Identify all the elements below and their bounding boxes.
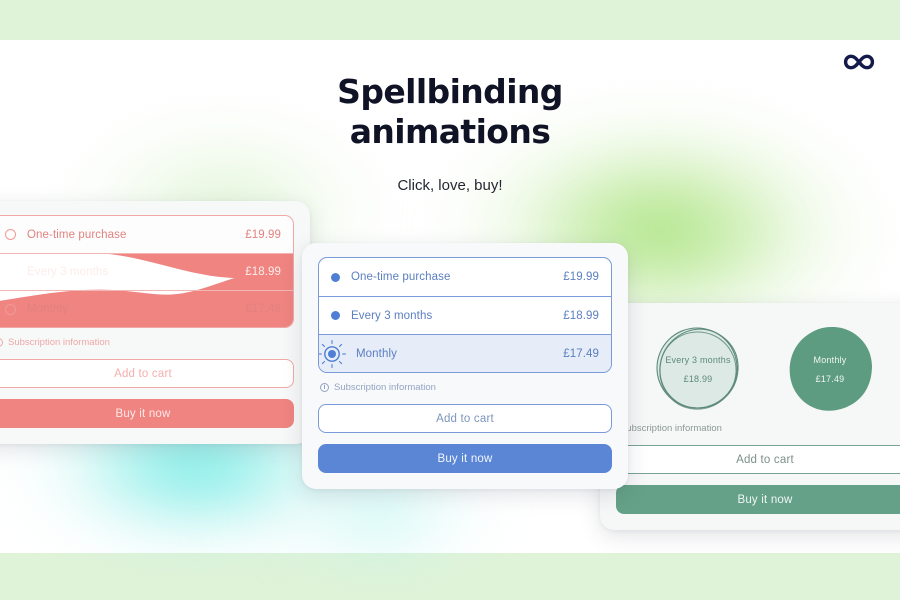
headline-line-1: Spellbinding bbox=[337, 72, 563, 111]
option-price: £18.99 bbox=[684, 374, 713, 384]
option-price: £17.49 bbox=[816, 374, 845, 384]
buy-it-now-button[interactable]: Buy it now bbox=[318, 444, 612, 473]
option-group-pink: One-time purchase £19.99 Every 3 months … bbox=[0, 215, 294, 328]
option-row[interactable]: One-time purchase £19.99 bbox=[319, 258, 611, 296]
info-circle-icon: i bbox=[320, 383, 329, 392]
page-title: Spellbinding animations bbox=[0, 76, 900, 147]
option-row[interactable]: Every 3 months £18.99 bbox=[319, 296, 611, 334]
add-to-cart-button[interactable]: Add to cart bbox=[318, 404, 612, 433]
radio-icon[interactable] bbox=[5, 229, 16, 240]
option-label: One-time purchase bbox=[351, 271, 563, 283]
option-group-green: Every 3 months £18.99 Monthly £17.49 bbox=[616, 319, 900, 419]
option-price: £18.99 bbox=[563, 310, 599, 322]
headline-line-2: animations bbox=[0, 116, 900, 147]
subscription-information-label: Subscription information bbox=[334, 382, 436, 393]
radio-icon-selected[interactable] bbox=[5, 267, 16, 278]
option-circle-filled[interactable]: Monthly £17.49 bbox=[784, 323, 876, 415]
option-price: £17.49 bbox=[563, 348, 599, 360]
blob-circle-icon bbox=[784, 323, 876, 415]
infinity-logo-icon[interactable] bbox=[842, 52, 876, 72]
option-circle-outline[interactable]: Every 3 months £18.99 bbox=[652, 323, 744, 415]
option-row[interactable]: Monthly £17.49 bbox=[0, 290, 293, 327]
sketch-circle-icon bbox=[652, 323, 744, 415]
option-price: £19.99 bbox=[563, 271, 599, 283]
buy-it-now-button[interactable]: Buy it now bbox=[616, 485, 900, 514]
option-row-selected[interactable]: Monthly £17.49 bbox=[319, 334, 611, 372]
radio-icon[interactable] bbox=[331, 273, 340, 282]
option-price: £19.99 bbox=[245, 229, 281, 241]
option-label: Monthly bbox=[27, 303, 245, 315]
screenshot-stage: Spellbinding animations Click, love, buy… bbox=[0, 0, 900, 600]
add-to-cart-button[interactable]: Add to cart bbox=[616, 445, 900, 474]
option-label: Every 3 months bbox=[665, 355, 730, 365]
buy-it-now-button[interactable]: Buy it now bbox=[0, 399, 294, 428]
page-subtitle: Click, love, buy! bbox=[0, 177, 900, 194]
option-price: £18.99 bbox=[245, 266, 281, 278]
option-label: Every 3 months bbox=[351, 310, 563, 322]
pricing-card-pink: One-time purchase £19.99 Every 3 months … bbox=[0, 201, 310, 444]
top-green-band bbox=[0, 0, 900, 40]
option-row-selected[interactable]: Every 3 months £18.99 bbox=[0, 253, 293, 290]
radio-burst-icon[interactable] bbox=[318, 339, 347, 369]
subscription-information-label: Subscription information bbox=[620, 423, 722, 434]
option-label: Monthly bbox=[356, 348, 563, 360]
subscription-information[interactable]: i Subscription information bbox=[0, 337, 294, 348]
add-to-cart-button[interactable]: Add to cart bbox=[0, 359, 294, 388]
radio-icon[interactable] bbox=[331, 311, 340, 320]
pricing-card-blue: One-time purchase £19.99 Every 3 months … bbox=[302, 243, 628, 489]
option-label: Every 3 months bbox=[27, 266, 245, 278]
info-circle-icon: i bbox=[0, 338, 3, 347]
option-group-blue: One-time purchase £19.99 Every 3 months … bbox=[318, 257, 612, 373]
option-label: Monthly bbox=[814, 355, 847, 365]
subscription-information-label: Subscription information bbox=[8, 337, 110, 348]
pricing-card-green: Every 3 months £18.99 Monthly £17.49 Sub… bbox=[600, 303, 900, 530]
option-row[interactable]: One-time purchase £19.99 bbox=[0, 216, 293, 253]
subscription-information[interactable]: i Subscription information bbox=[320, 382, 612, 393]
bottom-green-band bbox=[0, 553, 900, 600]
option-price: £17.49 bbox=[245, 303, 281, 315]
option-label: One-time purchase bbox=[27, 229, 245, 241]
subscription-information[interactable]: Subscription information bbox=[620, 423, 900, 434]
radio-icon[interactable] bbox=[5, 304, 16, 315]
